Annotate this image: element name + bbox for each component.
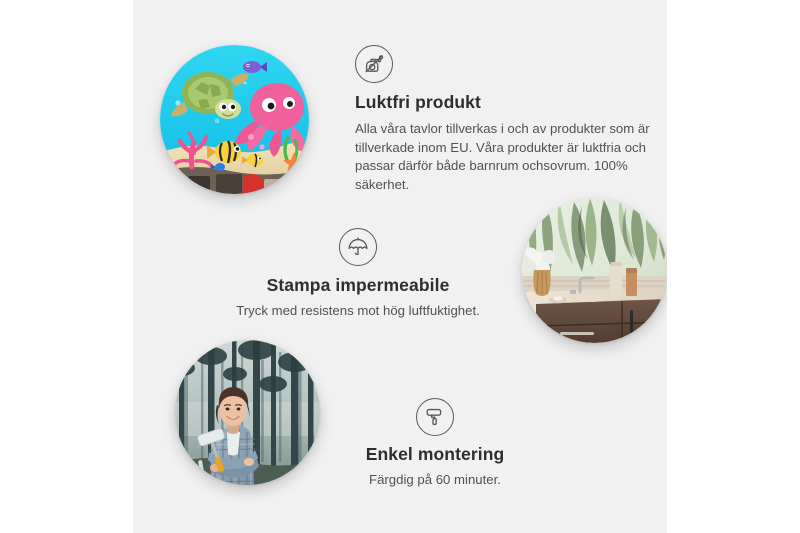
feature-2-body: Tryck med resistens mot hög luftfuktighe… [193,302,523,321]
umbrella-icon [339,228,377,266]
feature-1-body: Alla våra tavlor tillverkas i och av pro… [355,120,655,195]
feature-3-title: Enkel montering [295,444,575,466]
feature-2-text-block: Stampa impermeabile Tryck med resistens … [193,228,523,321]
feature-2-title: Stampa impermeabile [193,275,523,297]
feature-1-image-disc [160,45,309,194]
underwater-cartoon-scene-disc [160,45,309,194]
feature-3-body: Färgdig på 60 minuter. [295,471,575,490]
feature-enkel-montering: Enkel montering Färgdig på 60 minuter. [175,340,575,490]
no-odor-spray-bottle-icon [355,45,393,83]
feature-luktfri-produkt: Luktfri produkt Alla våra tavlor tillver… [160,45,660,195]
feature-3-text-block: Enkel montering Färgdig på 60 minuter. [295,398,575,490]
bathroom-vanity-tropical-wallpaper-disc [522,198,667,343]
features-panel: Luktfri produkt Alla våra tavlor tillver… [133,0,667,533]
feature-stampa-impermeabile: Stampa impermeabile Tryck med resistens … [193,198,667,348]
feature-1-text-block: Luktfri produkt Alla våra tavlor tillver… [355,45,655,195]
feature-2-image-disc [522,198,667,343]
screenshot-stage: Luktfri produkt Alla våra tavlor tillver… [0,0,800,533]
feature-1-title: Luktfri produkt [355,92,655,114]
paint-roller-icon [416,398,454,436]
